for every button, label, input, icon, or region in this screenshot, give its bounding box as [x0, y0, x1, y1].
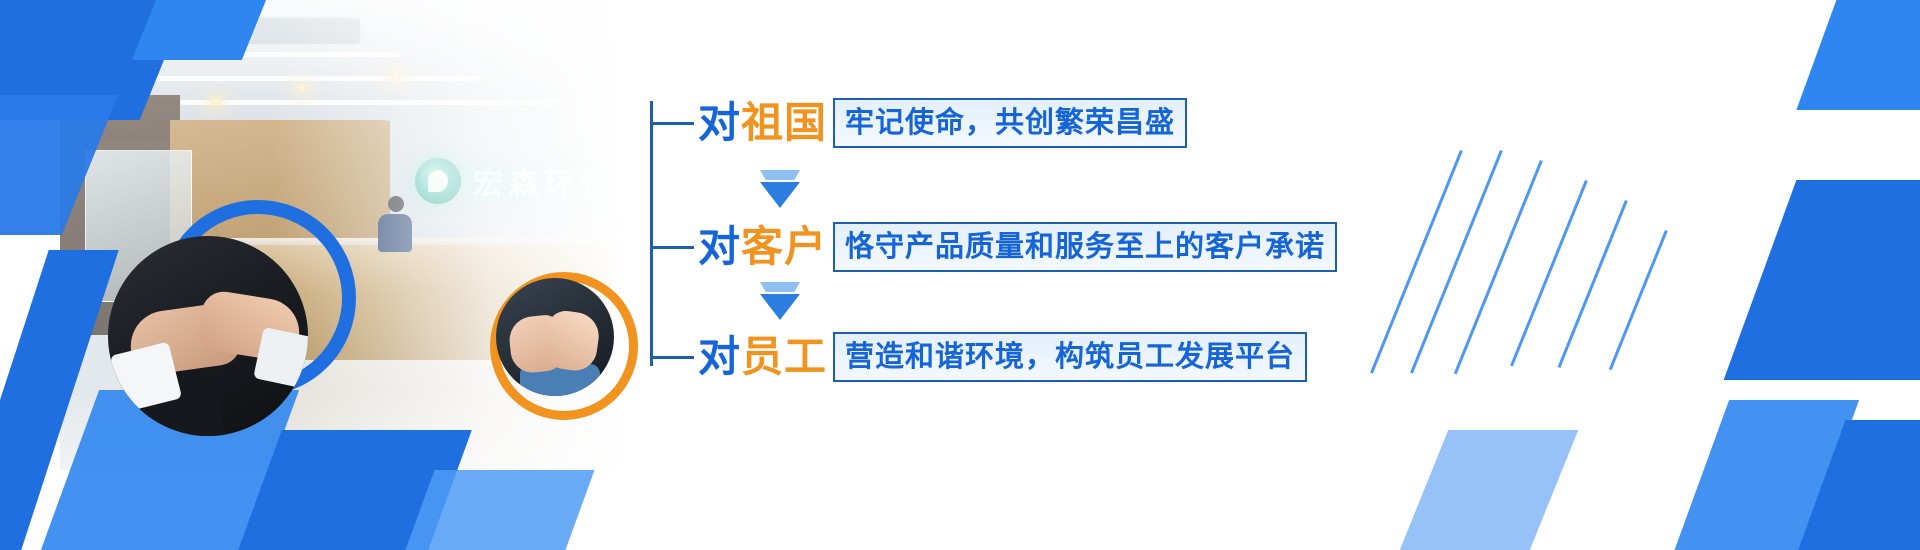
- applause-photo: [496, 278, 614, 396]
- slogan-subject: 员工: [741, 332, 827, 381]
- slogan-phrase-country: 牢记使命，共创繁荣昌盛: [833, 98, 1187, 148]
- decor-shape: [1796, 0, 1920, 110]
- decor-shape: [1392, 430, 1579, 550]
- slogan-title-customer: 对客户: [698, 226, 827, 268]
- slogan-phrase-employee: 营造和谐环境，构筑员工发展平台: [833, 332, 1307, 382]
- promo-banner: 宏森环保 HONGSEN ENVIRONMENTAL: [0, 0, 1920, 550]
- company-logo-icon: [415, 158, 461, 204]
- slogan-row-employee: 对员工 营造和谐环境，构筑员工发展平台: [650, 332, 1307, 382]
- slogan-group: 对祖国 牢记使命，共创繁荣昌盛 对客户 恪守产品质量和服务至上的客户承诺 对员工…: [650, 70, 1410, 470]
- slogan-row-country: 对祖国 牢记使命，共创繁荣昌盛: [650, 98, 1187, 148]
- slogan-title-country: 对祖国: [698, 102, 827, 144]
- downlight: [296, 82, 308, 94]
- decor-line: [1454, 160, 1543, 374]
- slogan-phrase-customer: 恪守产品质量和服务至上的客户承诺: [833, 222, 1337, 272]
- slogan-subject: 祖国: [741, 98, 827, 147]
- slogan-subject: 客户: [741, 222, 827, 271]
- slogan-prefix: 对: [698, 222, 741, 271]
- handshake-photo: [108, 236, 308, 436]
- row-connector: [650, 122, 694, 125]
- company-sign: 宏森环保 HONGSEN ENVIRONMENTAL: [415, 150, 655, 212]
- slogan-prefix: 对: [698, 98, 741, 147]
- slogan-prefix: 对: [698, 332, 741, 381]
- downlight: [210, 96, 222, 108]
- arrow-down-icon: [760, 282, 800, 320]
- slogan-row-customer: 对客户 恪守产品质量和服务至上的客户承诺: [650, 222, 1337, 272]
- decor-shape: [1724, 180, 1920, 380]
- row-connector: [650, 356, 694, 359]
- receptionist: [378, 196, 414, 252]
- downlight: [390, 70, 402, 82]
- row-connector: [650, 246, 694, 249]
- company-logo-subtext: HONGSEN ENVIRONMENTAL: [473, 196, 613, 204]
- decor-line: [1609, 230, 1668, 370]
- decor-shape: [405, 470, 594, 550]
- decor-line: [1410, 150, 1503, 374]
- slogan-title-employee: 对员工: [698, 336, 827, 378]
- ceiling-light-strip: [140, 76, 480, 81]
- arrow-down-icon: [760, 170, 800, 208]
